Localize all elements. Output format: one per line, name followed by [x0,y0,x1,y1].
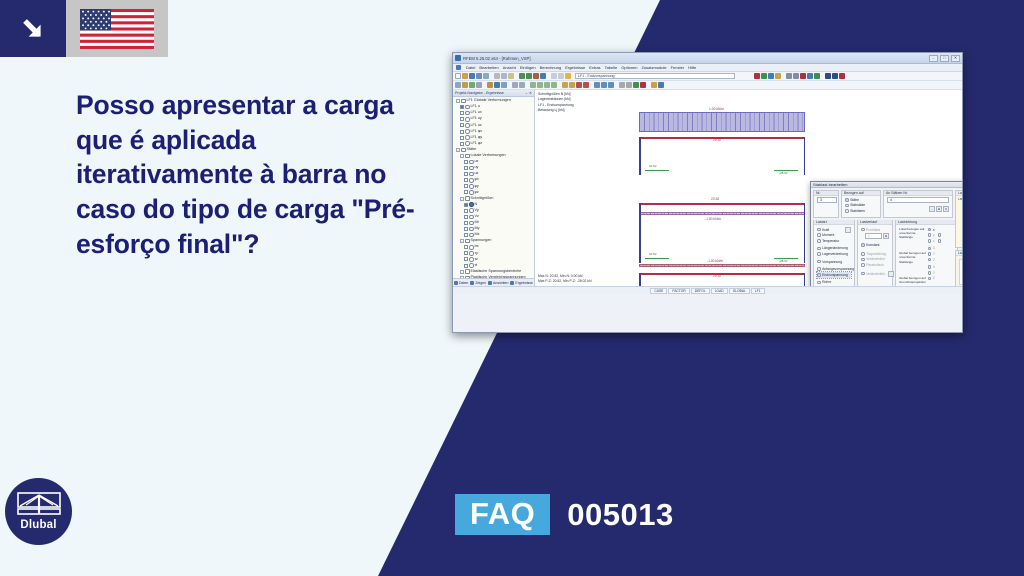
sections-icon[interactable] [775,73,781,79]
lastart-kraft-options-button[interactable] [845,227,851,233]
tree-item-label: Mt [475,221,479,225]
tree-item-label: Lokale Verformungen [471,154,506,158]
dialog-body: Nr. 3 Bezogen auf Stäbe Stabsätze Stabli… [811,188,962,286]
group-lastart-caption: Lastart [814,220,854,225]
menu-app-icon [456,65,461,70]
filter-icon[interactable] [608,82,614,88]
load-direction-preview-caption: Lastrichtung / Lokal x [956,251,962,256]
tree-node-icon [465,105,470,110]
beam-2 [639,203,805,205]
faq-badge: FAQ [455,494,550,535]
tree-node-icon [469,227,474,232]
radio-punktlast[interactable]: Punktlast [861,227,889,233]
tree-node-icon [465,239,470,244]
tree-node-icon [465,111,470,116]
line-tool-icon[interactable] [462,82,468,88]
lastrichtung-projection-title: Global bezogen auf Grundrissprojektion [899,276,926,284]
an-staeben-input[interactable]: 4 [887,197,949,203]
results-values-icon[interactable] [761,73,767,79]
radio-anfangsvorspannung[interactable]: Anfangsvorspannung [817,266,851,272]
copy-icon[interactable] [501,73,507,79]
load-case-combobox[interactable]: LF1 - Endvorspannung [575,73,735,79]
tree-checkbox[interactable] [464,257,468,261]
group-lastart: Lastart Kraft Moment Temperatur Längenän… [813,220,855,286]
group-bezogen-caption: Bezogen auf [842,191,880,196]
tree-checkbox[interactable] [464,178,468,182]
tree-node-icon [469,160,474,165]
navigator-tab-daten[interactable]: Daten [454,281,468,285]
tree-expander-icon[interactable]: - [460,270,464,274]
tree-item-label: φz [475,191,479,195]
status-defol[interactable]: DEFOL [691,288,710,294]
tree-item-label: LF1 u [471,105,480,109]
load-label-3: -1.00 kN/m [707,259,723,263]
lastrichtung-global-title: Global bezogen auf unverformte Stablänge [899,251,926,264]
close-button[interactable]: ✕ [951,55,960,62]
tree-item-label: My [475,227,480,231]
load-label-1: 1.00 kN/m [709,107,724,111]
tree-item-label: τz [475,258,478,262]
delete-icon[interactable] [800,73,806,79]
distributed-load-thin-3 [639,264,805,267]
group-bezogen-auf: Bezogen auf Stäbe Stabsätze Stablisten [841,190,881,218]
tree-node-icon [469,172,474,177]
united-states-flag-icon [80,9,154,49]
mesh-tool-icon[interactable] [512,82,518,88]
tree-node-icon [469,166,474,171]
frame-diagram-2[interactable]: 20.52 -1.00 kN/m 20.52 -28.02 [639,200,805,264]
maximize-button[interactable]: □ [940,55,949,62]
redo-icon[interactable] [526,73,532,79]
tree-checkbox[interactable] [464,184,468,188]
tree-item-label: Stäbe [467,148,477,152]
view-iso-icon[interactable] [551,82,557,88]
app-icon [455,55,461,61]
tree-expander-icon[interactable]: - [460,154,464,158]
load-tool-icon[interactable] [494,82,500,88]
edit-member-load-dialog[interactable]: Stablast bearbeiten ✕ Nr. 3 [810,181,962,286]
tree-node-icon [469,251,474,256]
tree-item-label: LF1 φx [471,130,483,134]
tree-item-label: Vy [475,209,479,213]
refine-tool-icon[interactable] [519,82,525,88]
frame-diagram-3[interactable]: -1.00 kN/m 20.52 20.52 -28.02 [639,264,805,286]
lastrichtung-local-title: Lokal bezogen auf unverformte Stablänge [899,227,926,240]
distributed-load-block-1 [639,112,805,132]
tree-node-icon [469,263,474,268]
rfem-application-window[interactable]: RFEM 5.25.02 x64 - [Rahmen_VSP] – □ ✕ Da… [452,52,963,333]
radio-parabolisch[interactable]: Parabolisch [861,262,889,268]
tree-item-label: ux [475,160,479,164]
tree-checkbox[interactable] [464,203,468,207]
radio-lagerverdrehung[interactable]: Lagerverdrehung [817,251,851,257]
status-load[interactable]: LOAD [711,288,728,294]
tree-checkbox[interactable] [464,221,468,225]
load-direction-preview: Lastrichtung / Lokal x z x [955,250,962,286]
print-icon[interactable] [476,73,482,79]
tree-item-label: LF1 Globale Verformungen [467,99,511,103]
navigator-title: Projekt-Navigator - Ergebnisse [455,91,504,95]
tree-item-label: τt [475,264,477,268]
axial-force-label-1: 20.52 [713,138,721,142]
group-an-staeben-caption: An Stäben Nr. [884,191,952,196]
result-legend-text: Schnittgrößen N [kN] Lagerreaktionen [kN… [538,92,574,113]
measure-icon[interactable] [576,82,582,88]
radio-konstant[interactable]: Konstant [861,242,889,248]
render-icon[interactable] [533,73,539,79]
snap-icon[interactable] [558,73,564,79]
tree-node-icon [469,178,474,183]
arrow-down-right-icon [18,14,48,44]
status-bar: CASE FACTOR DEFOL LOAD GLOBAL LF1 [453,286,962,294]
tree-checkbox[interactable] [460,123,464,127]
axial-force-label-2: 20.52 [711,197,719,201]
dialog-title: Stablast bearbeiten [813,182,847,187]
load-label-2: -1.00 kN/m [705,217,721,221]
column-right-1 [804,137,806,175]
tree-checkbox[interactable] [460,130,464,134]
node-tool-icon[interactable] [455,82,461,88]
tree-checkbox[interactable] [464,251,468,255]
view-top-icon[interactable] [544,82,550,88]
veraenderlich-edit-button[interactable] [888,271,894,277]
tree-node-icon [461,99,466,104]
cut-icon[interactable] [494,73,500,79]
deform-icon[interactable] [768,73,774,79]
stop-icon[interactable] [640,82,646,88]
tree-item-label: Spannungen [471,239,492,243]
tree-expander-icon[interactable]: - [460,239,464,243]
zoom-all-icon[interactable] [793,73,799,79]
support-tool-icon[interactable] [487,82,493,88]
navigator-tabs[interactable]: Daten Zeigen Ansichten Ergebnisse [453,278,534,286]
nr-input[interactable]: 3 [817,197,837,203]
tree-node-icon [469,190,474,195]
dlubal-logo-text: Dlubal [20,519,56,531]
grid-icon[interactable] [551,73,557,79]
result-extremes-text: Max N: 20.52, Min N: 0.00 kN Max P-Z: 20… [538,274,592,284]
open-file-icon[interactable] [462,73,468,79]
zoom-window-icon[interactable] [786,73,792,79]
tree-item-label: φy [475,185,479,189]
beam-3 [639,273,805,275]
settings-icon[interactable] [619,82,625,88]
tree-item-label: LF1 φz [471,142,483,146]
tree-node-icon [469,257,474,262]
tree-node-icon [465,141,470,146]
help-icon[interactable] [839,73,845,79]
tree-node-icon [469,233,474,238]
tree-node-icon [469,215,474,220]
navigator-header: Projekt-Navigator - Ergebnisse ⌄ ✕ [453,90,534,97]
tree-node-icon [465,269,470,274]
menu-item-extras[interactable]: Extras [589,65,600,70]
tree-checkbox[interactable] [460,117,464,121]
navigator-pin-icon[interactable]: ⌄ ✕ [525,91,532,95]
check-icon[interactable] [814,73,820,79]
status-loadcase[interactable]: LF1 [751,288,765,294]
info-icon[interactable] [658,82,664,88]
load-type-preview-caption: Lastart / Endvorspannung [956,191,962,196]
tree-item-label: N [475,203,478,207]
tree-item-label: uy [475,166,479,170]
tree-node-icon [469,245,474,250]
tree-checkbox[interactable] [460,142,464,146]
menu-item-einfuegen[interactable]: Einfügen [520,65,536,70]
visibility-icon[interactable] [601,82,607,88]
tree-node-icon [465,117,470,122]
tree-checkbox[interactable] [464,215,468,219]
tree-item-label: uz [475,172,479,176]
tree-node-icon [465,135,470,140]
direction-mini-1: z x [959,259,962,285]
dialog-left-column: Nr. 3 Bezogen auf Stäbe Stabsätze Stabli… [813,190,953,286]
menu-item-optionen[interactable]: Optionen [621,65,637,70]
tree-checkbox[interactable] [464,166,468,170]
pan-icon[interactable] [569,82,575,88]
tree-node-icon [469,202,474,207]
radio-veraenderlich[interactable]: Veränderlich [861,257,889,263]
load-type-preview: Lastart / Endvorspannung Lastverlauf / K… [955,190,962,248]
view-front-icon[interactable] [530,82,536,88]
loadcase-icon[interactable] [565,73,571,79]
results-tree[interactable]: -LF1 Globale VerformungenLF1 uLF1 uxLF1 … [453,97,534,278]
menu-bar[interactable]: Datei Bearbeiten Ansicht Einfügen Berech… [453,64,962,72]
support-left-label-2: 20.52 [649,252,657,256]
radio-trapezfoermig[interactable]: Trapezförmig [861,251,889,257]
column-left-2 [639,203,641,263]
group-lastverlauf-caption: Lastverlauf [858,220,892,225]
tree-checkbox[interactable] [464,190,468,194]
beam-1 [639,137,805,139]
tree-checkbox[interactable] [460,105,464,109]
radio-veraenderlich-n[interactable]: Veränderlich… [861,271,889,277]
tree-item-label: φx [475,178,479,182]
report-icon[interactable] [832,73,838,79]
radio-vorspannung[interactable]: Vorspannung [817,259,851,265]
page-title: Posso apresentar a carga que é aplicada … [76,88,436,262]
tree-expander-icon[interactable]: - [456,148,460,152]
hinge-tool-icon[interactable] [501,82,507,88]
frame-diagram-1[interactable]: 1.00 kN/m 20.52 20.52 -28.02 [639,112,805,176]
tree-node-icon [461,148,466,153]
radio-proj-z[interactable]: Z [928,276,954,282]
radio-global-z[interactable]: Z [928,257,954,263]
support-left-1 [645,170,669,171]
menu-item-ergebnisse[interactable]: Ergebnisse [565,65,585,70]
tree-checkbox[interactable] [460,111,464,115]
select-icon[interactable] [807,73,813,79]
tree-item-label: Schnittgrößen [471,197,494,201]
radio-laengenaenderung[interactable]: Längenänderung [817,246,851,252]
column-right-2 [804,203,806,263]
tree-item-label: τy [475,252,478,256]
tree-item-label: LF1 φy [471,136,483,140]
radio-local-z[interactable]: z [928,238,935,244]
navigator-tab-ergebnisse[interactable]: Ergebnisse [510,281,533,285]
tree-node-icon [469,221,474,226]
group-an-staeben: An Stäben Nr. 4 … ⊞ ⊡ [883,190,953,218]
support-left-label-1: 20.52 [649,164,657,168]
toolbar-secondary[interactable] [453,81,962,90]
radio-local-z2[interactable] [938,238,943,244]
tree-item-label: σx [475,245,479,249]
navigator-tab-zeigen[interactable]: Zeigen [470,281,486,285]
slide-canvas: Posso apresentar a carga que é aplicada … [0,0,1024,576]
menu-item-berechnung[interactable]: Berechnung [540,65,562,70]
tree-item-label: Vz [475,215,479,219]
tree-checkbox[interactable] [464,209,468,213]
rotate-icon[interactable] [562,82,568,88]
tree-checkbox[interactable] [464,172,468,176]
save-icon[interactable] [469,73,475,79]
punktlast-count-button[interactable]: ⊞ [883,233,889,239]
layer-icon[interactable] [594,82,600,88]
tree-checkbox[interactable] [464,233,468,237]
tree-item-label: LF1 ux [471,111,482,115]
member-tool-icon[interactable] [469,82,475,88]
project-navigator-panel[interactable]: Projekt-Navigator - Ergebnisse ⌄ ✕ -LF1 … [453,90,535,286]
radio-stablisten[interactable]: Stablisten [845,208,877,214]
list-members-button[interactable]: ⊡ [943,206,949,212]
tree-item-label: Mz [475,233,480,237]
tree-checkbox[interactable] [460,136,464,140]
group-lastrichtung: Lastrichtung Lokal bezogen auf unverform… [895,220,958,286]
tree-checkbox[interactable] [464,245,468,249]
radio-endvorspannung[interactable]: Endvorspannung [817,272,851,278]
group-lastverlauf: Lastverlauf Punktlast 1 ⊞ Konstant [857,220,893,286]
tree-expander-icon[interactable]: - [456,99,460,103]
calculate-icon[interactable] [540,73,546,79]
distributed-load-thin-2 [639,212,805,215]
tree-node-icon [469,208,474,213]
tree-checkbox[interactable] [464,160,468,164]
undo-icon[interactable] [519,73,525,79]
options-icon[interactable] [626,82,632,88]
status-factor[interactable]: FACTOR [668,288,689,294]
window-controls[interactable]: – □ ✕ [929,55,960,62]
dlubal-logo: Dlubal [5,478,72,545]
results-on-icon[interactable] [754,73,760,79]
menu-item-datei[interactable]: Datei [466,65,475,70]
faq-footer: FAQ 005013 [455,494,674,535]
window-title: RFEM 5.25.02 x64 - [Rahmen_VSP] [463,56,929,61]
tree-node-icon [469,184,474,189]
column-left-3 [639,273,641,286]
axis-icon[interactable] [651,82,657,88]
radio-rohre[interactable]: Rohre [817,280,851,286]
support-right-label-1: -28.02 [779,171,788,175]
tree-checkbox[interactable] [464,227,468,231]
paste-icon[interactable] [508,73,514,79]
menu-item-ansicht[interactable]: Ansicht [503,65,516,70]
tree-item-label: LF1 uy [471,117,482,121]
column-left-1 [639,137,641,175]
support-left-2 [645,258,669,259]
radio-temperatur[interactable]: Temperatur [817,238,851,244]
surface-tool-icon[interactable] [476,82,482,88]
window-title-bar[interactable]: RFEM 5.25.02 x64 - [Rahmen_VSP] – □ ✕ [453,53,962,64]
select-members-button[interactable]: ⊞ [936,206,942,212]
dialog-preview-column: Lastart / Endvorspannung Lastverlauf / K… [955,190,962,286]
tree-node-icon [465,129,470,134]
application-body: Projekt-Navigator - Ergebnisse ⌄ ✕ -LF1 … [453,90,962,286]
group-nr: Nr. 3 [813,190,839,218]
graphics-work-area[interactable]: Schnittgrößen N [kN] Lagerreaktionen [kN… [535,90,962,286]
pick-members-button[interactable]: … [929,206,935,212]
language-flag-badge [66,0,168,57]
status-global[interactable]: GLOBAL [729,288,750,294]
tree-item-label: Elastische Spannungsbereiche [471,270,522,274]
menu-item-bearbeiten[interactable]: Bearbeiten [479,65,498,70]
tree-node-icon [465,154,470,159]
run-icon[interactable] [633,82,639,88]
dlubal-truss-icon [17,492,61,518]
tree-node-icon [465,123,470,128]
dimension-icon[interactable] [583,82,589,88]
navigator-tab-ansichten[interactable]: Ansichten [488,281,508,285]
arrow-down-right-badge [0,0,66,57]
status-case[interactable]: CASE [650,288,667,294]
menu-item-hilfe[interactable]: Hilfe [688,65,696,70]
column-right-3 [804,273,806,286]
print-preview-icon[interactable] [483,73,489,79]
load-type-preview-sub: Lastverlauf / Konstant [958,197,962,201]
tree-item-label: LF1 uz [471,124,482,128]
tree-expander-icon[interactable]: - [460,197,464,201]
menu-item-zusatzmodule[interactable]: Zusatzmodule [641,65,666,70]
tree-checkbox[interactable] [464,264,468,268]
tree-node-icon [465,196,470,201]
minimize-button[interactable]: – [929,55,938,62]
support-right-label-2: -28.02 [779,259,788,263]
menu-item-fenster[interactable]: Fenster [671,65,685,70]
faq-number: 005013 [567,497,673,533]
group-lastrichtung-caption: Lastrichtung [896,220,957,225]
menu-item-tabelle[interactable]: Tabelle [605,65,618,70]
table-icon[interactable] [825,73,831,79]
toolbar-primary[interactable]: LF1 - Endvorspannung [453,72,962,81]
new-file-icon[interactable] [455,73,461,79]
view-side-icon[interactable] [537,82,543,88]
group-nr-caption: Nr. [814,191,838,196]
axial-force-label-3: 20.52 [713,274,721,278]
